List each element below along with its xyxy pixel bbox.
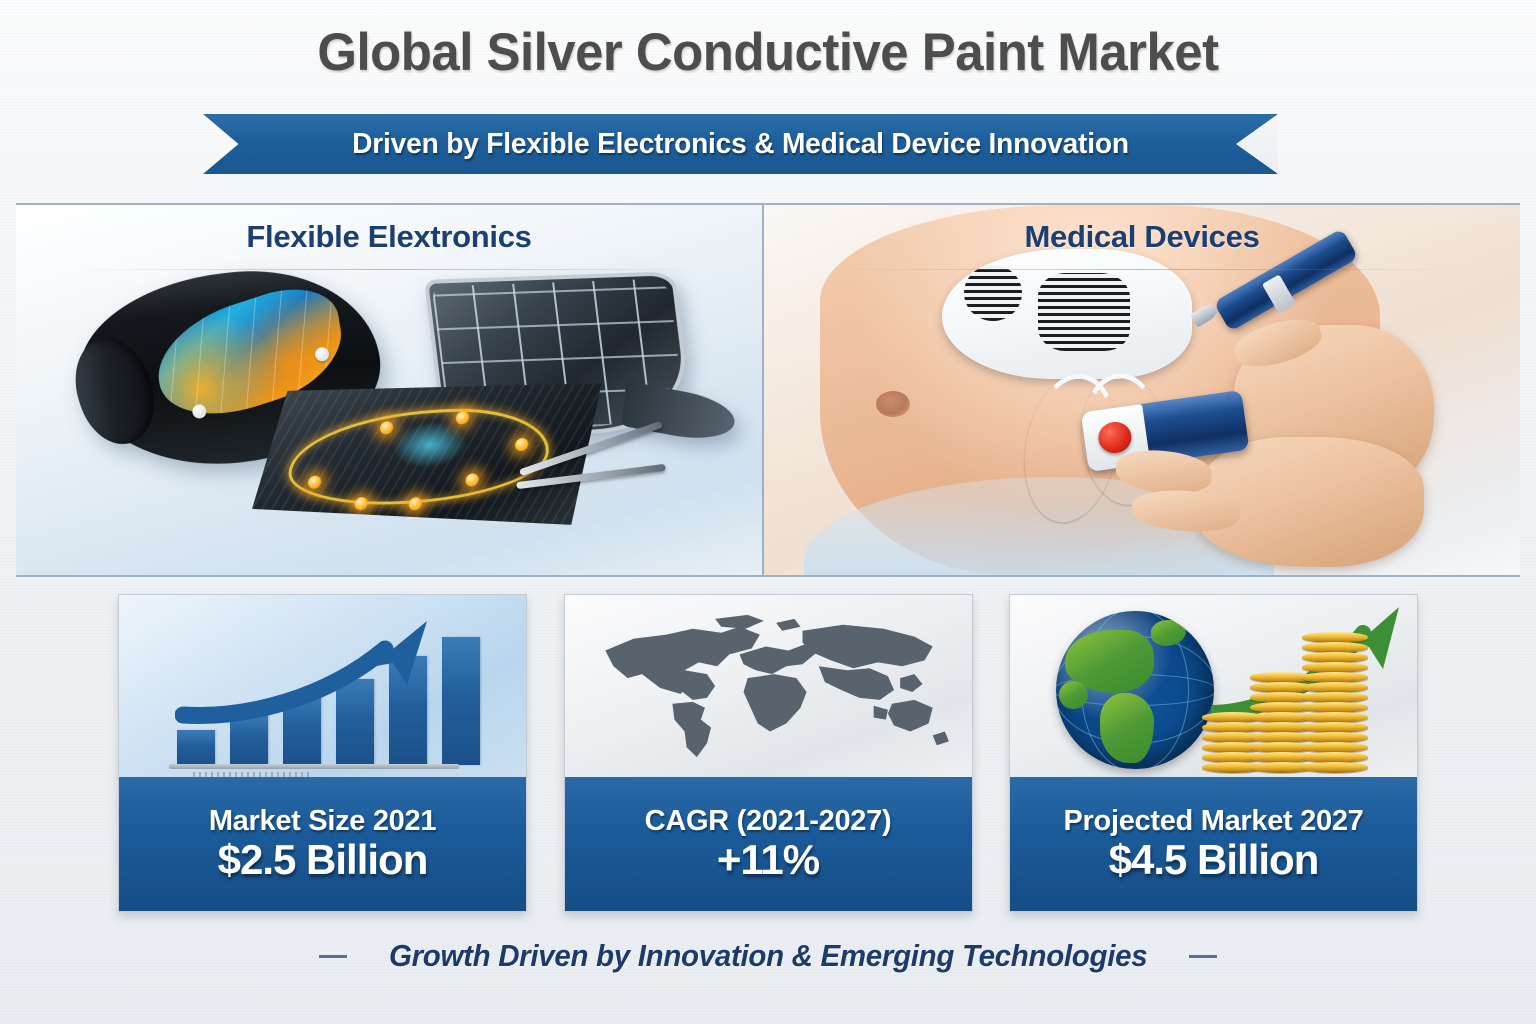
electrode-sensor-icon bbox=[1038, 273, 1130, 351]
stat-value: $2.5 Billion bbox=[218, 836, 428, 884]
bar-chart-growth-icon bbox=[119, 595, 526, 779]
footer-text: Growth Driven by Innovation & Emerging T… bbox=[389, 938, 1147, 974]
rising-arrow-icon bbox=[175, 611, 495, 741]
electrode-sensor-icon bbox=[964, 265, 1022, 321]
panel-flexible-electronics: Flexible Elextronics bbox=[16, 205, 764, 575]
panel-heading-medical-devices: Medical Devices bbox=[764, 219, 1520, 255]
stat-card-band: CAGR (2021-2027) +11% bbox=[565, 777, 972, 911]
red-button-icon[interactable] bbox=[1096, 420, 1133, 455]
stat-cards: Market Size 2021 $2.5 Billion bbox=[118, 594, 1418, 912]
top-panels: Flexible Elextronics bbox=[16, 203, 1520, 577]
solar-sheet-tail bbox=[621, 381, 736, 447]
stat-label: Projected Market 2027 bbox=[1064, 805, 1364, 838]
footer-dash-right-icon bbox=[1189, 955, 1217, 958]
world-map bbox=[587, 609, 953, 767]
page-title: Global Silver Conductive Paint Market bbox=[31, 22, 1506, 83]
coin bbox=[1302, 762, 1368, 773]
stat-value: $4.5 Billion bbox=[1109, 836, 1319, 884]
ribbon-label: Driven by Flexible Electronics & Medical… bbox=[219, 114, 1262, 174]
panel-heading-flexible-electronics: Flexible Elextronics bbox=[16, 219, 762, 255]
chart-baseline bbox=[169, 764, 459, 769]
footer-dash-left-icon bbox=[319, 955, 347, 958]
panel-divider-rule bbox=[76, 269, 703, 270]
subtitle-ribbon: Driven by Flexible Electronics & Medical… bbox=[203, 114, 1278, 174]
globe-icon bbox=[1056, 611, 1214, 769]
stat-value: +11% bbox=[717, 836, 819, 884]
continent-fragment bbox=[1059, 681, 1087, 709]
stat-card-market-size[interactable]: Market Size 2021 $2.5 Billion bbox=[118, 594, 527, 912]
coin-stack-large bbox=[1302, 633, 1368, 773]
torso-detail bbox=[876, 391, 910, 417]
stat-card-band: Projected Market 2027 $4.5 Billion bbox=[1010, 777, 1417, 911]
stat-card-band: Market Size 2021 $2.5 Billion bbox=[119, 777, 526, 911]
stat-label: CAGR (2021-2027) bbox=[645, 805, 892, 838]
infographic-root: Global Silver Conductive Paint Market Dr… bbox=[0, 0, 1536, 1024]
world-map-icon bbox=[565, 595, 972, 779]
footer: Growth Driven by Innovation & Emerging T… bbox=[0, 938, 1536, 974]
stat-card-projected-market[interactable]: Projected Market 2027 $4.5 Billion bbox=[1009, 594, 1418, 912]
globe-and-coins-icon bbox=[1010, 595, 1417, 779]
panel-divider-rule bbox=[824, 269, 1459, 270]
stat-card-cagr[interactable]: CAGR (2021-2027) +11% bbox=[564, 594, 973, 912]
panel-medical-devices: Medical Devices bbox=[764, 205, 1520, 575]
continent-south-america bbox=[1100, 693, 1154, 763]
stat-label: Market Size 2021 bbox=[209, 805, 436, 838]
